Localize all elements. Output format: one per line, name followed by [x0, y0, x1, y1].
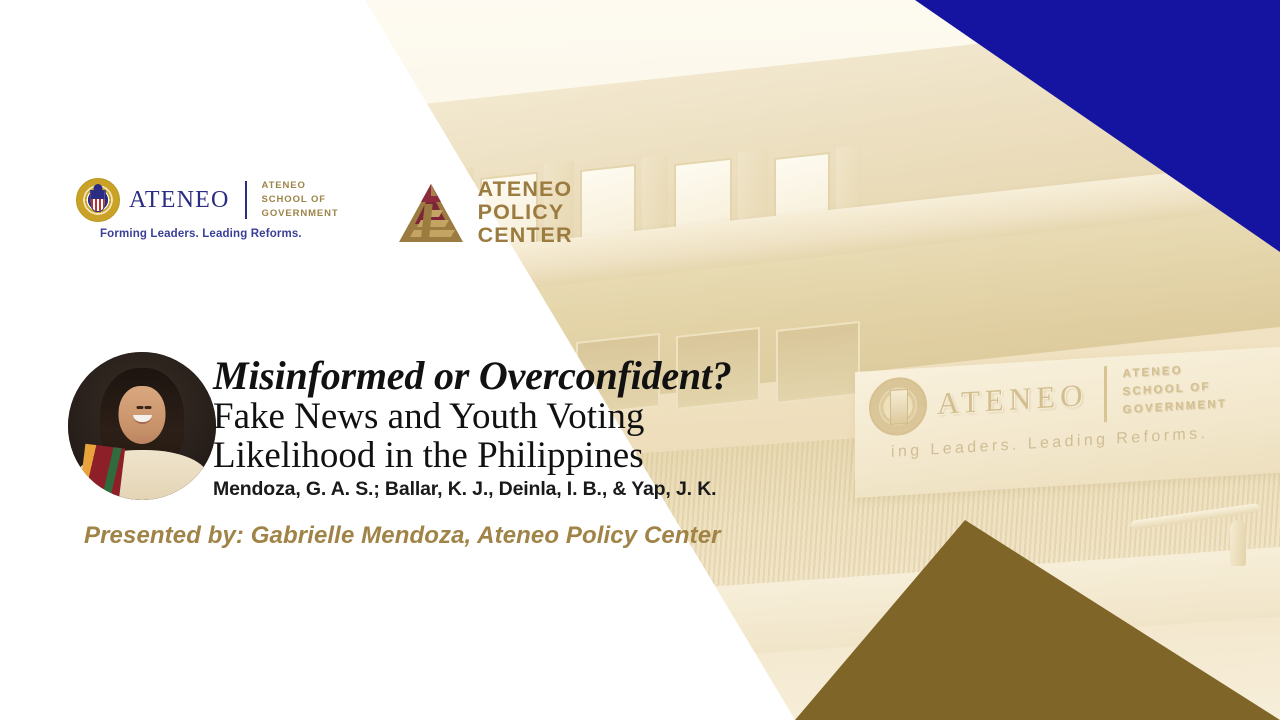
ateneo-policy-center-logo: ATENEO POLICY CENTER [397, 178, 573, 248]
ateneo-wordmark: ATENEO [129, 188, 230, 212]
asg-unit-line-3: GOVERNMENT [262, 207, 339, 221]
asg-tagline: Forming Leaders. Leading Reforms. [76, 228, 339, 240]
presenter-avatar [68, 352, 216, 500]
author-list: Mendoza, G. A. S.; Ballar, K. J., Deinla… [213, 478, 913, 501]
asg-unit-name: ATENEO SCHOOL OF GOVERNMENT [262, 179, 339, 220]
apc-line-1: ATENEO [478, 178, 573, 201]
apc-triangle-icon [397, 182, 465, 244]
logo-row: ATENEO ATENEO SCHOOL OF GOVERNMENT Formi… [76, 178, 573, 248]
asg-unit-line-2: SCHOOL OF [262, 193, 339, 207]
title-slide: ATENEO ATENEO SCHOOL OF GOVERNMENT ing L… [0, 0, 1280, 720]
page-subtitle-line-1: Fake News and Youth Voting [213, 397, 913, 436]
title-block: Misinformed or Overconfident? Fake News … [213, 356, 913, 501]
presenter-credit: Presented by: Gabrielle Mendoza, Ateneo … [84, 522, 721, 550]
asg-unit-line-1: ATENEO [262, 179, 339, 193]
apc-wordmark: ATENEO POLICY CENTER [478, 178, 573, 248]
page-subtitle-line-2: Likelihood in the Philippines [213, 436, 913, 475]
apc-line-2: POLICY [478, 201, 573, 224]
ateneo-school-of-government-logo: ATENEO ATENEO SCHOOL OF GOVERNMENT Formi… [76, 178, 339, 240]
page-title-emphasis: Misinformed or Overconfident? [213, 356, 913, 397]
ateneo-seal-icon [76, 178, 120, 222]
apc-line-3: CENTER [478, 224, 573, 247]
logo-divider [245, 181, 247, 219]
